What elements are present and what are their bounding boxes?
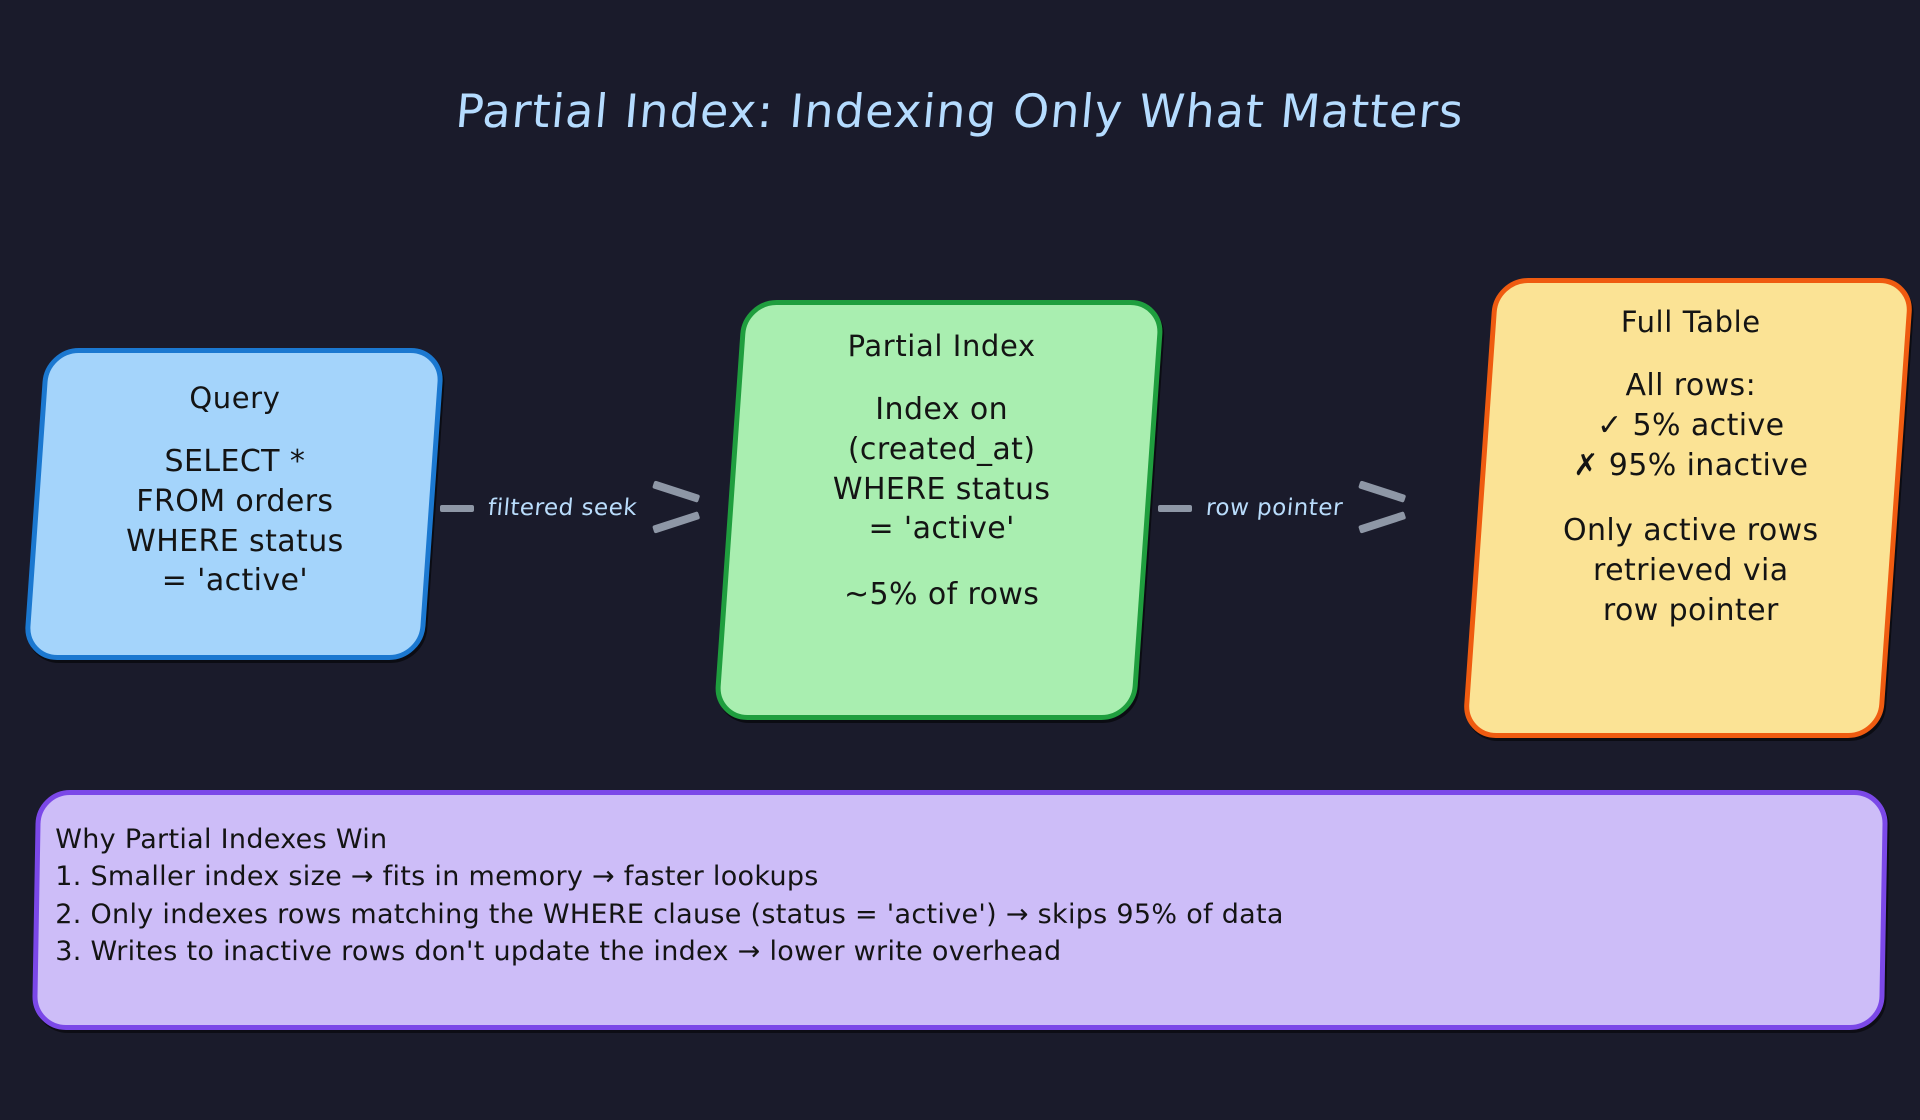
node-partial-index-line-2: (created_at)	[848, 430, 1036, 470]
arrow-right-icon	[1357, 493, 1411, 523]
node-full-table-line-1: All rows:	[1625, 366, 1756, 406]
node-query-title: Query	[189, 381, 280, 416]
edge-filtered-seek: filtered seek	[440, 478, 705, 538]
legend-item-3: 3. Writes to inactive rows don't update …	[55, 933, 1881, 970]
node-partial-index-footer: ~5% of rows	[844, 575, 1039, 615]
page-title: Partial Index: Indexing Only What Matter…	[0, 84, 1920, 138]
node-full-table-footer-1: Only active rows	[1563, 511, 1819, 551]
node-query-line-2: FROM orders	[136, 482, 333, 522]
diagram-canvas: Partial Index: Indexing Only What Matter…	[0, 0, 1920, 1120]
edge-line	[440, 505, 474, 512]
node-query[interactable]: Query SELECT * FROM orders WHERE status …	[23, 348, 445, 660]
node-full-table-footer-3: row pointer	[1603, 591, 1779, 631]
node-partial-index-line-1: Index on	[875, 390, 1008, 430]
node-full-table-inactive-row: ✗ 95% inactive	[1573, 446, 1808, 486]
legend-item-1: 1. Smaller index size → fits in memory →…	[55, 858, 1881, 895]
node-partial-index-title: Partial Index	[848, 329, 1036, 364]
node-full-table[interactable]: Full Table All rows: ✓ 5% active ✗ 95% i…	[1462, 278, 1914, 738]
edge-filtered-seek-label: filtered seek	[473, 495, 652, 521]
node-full-table-title: Full Table	[1621, 305, 1761, 340]
edge-line	[1158, 505, 1192, 512]
legend-panel: Why Partial Indexes Win 1. Smaller index…	[32, 790, 1888, 1030]
node-query-line-3: WHERE status	[126, 522, 344, 562]
node-full-table-footer-2: retrieved via	[1593, 551, 1788, 591]
arrow-right-icon	[651, 493, 705, 523]
edge-row-pointer: row pointer	[1158, 478, 1411, 538]
legend-item-2: 2. Only indexes rows matching the WHERE …	[55, 896, 1881, 933]
node-partial-index[interactable]: Partial Index Index on (created_at) WHER…	[713, 300, 1164, 720]
edge-row-pointer-label: row pointer	[1191, 495, 1358, 521]
node-query-line-4: = 'active'	[162, 561, 308, 601]
node-partial-index-line-4: = 'active'	[868, 509, 1014, 549]
legend-heading: Why Partial Indexes Win	[55, 821, 1881, 858]
node-full-table-active-row: ✓ 5% active	[1597, 406, 1784, 446]
node-partial-index-line-3: WHERE status	[833, 470, 1050, 510]
node-query-line-1: SELECT *	[165, 442, 306, 482]
